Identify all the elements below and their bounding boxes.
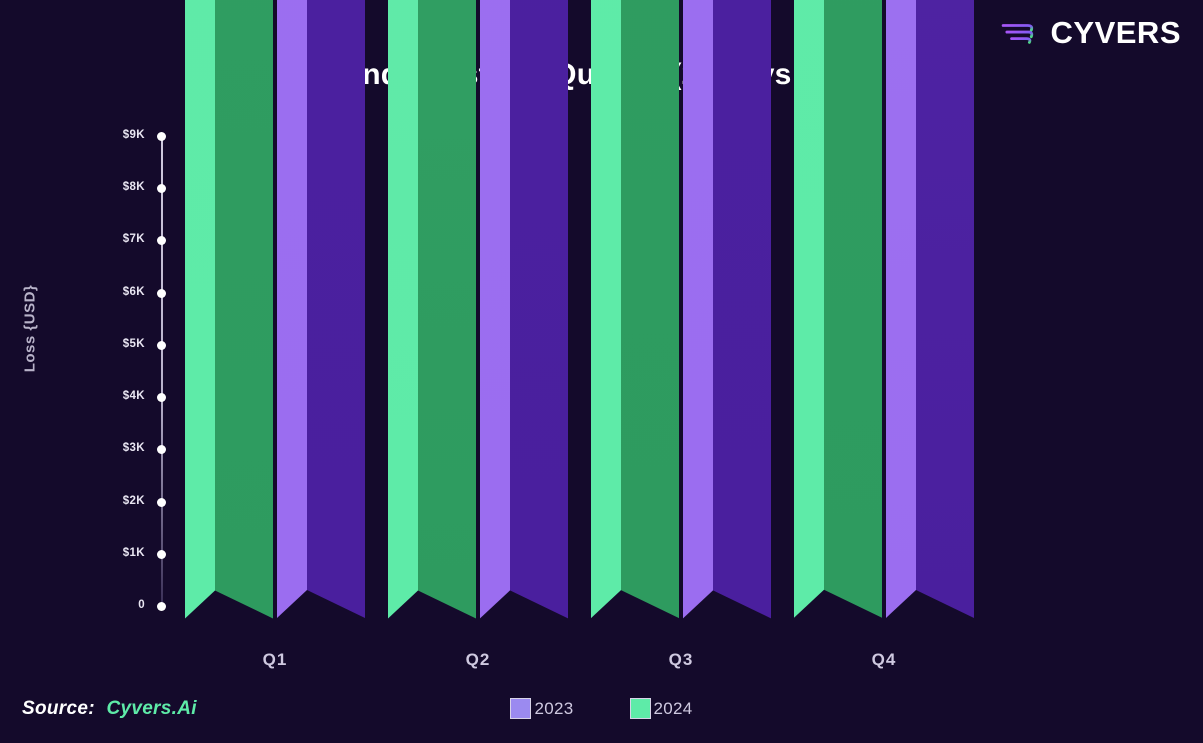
chart-canvas: CYVERS Funds Lost per Quarter (2023 vs 2…: [0, 0, 1203, 743]
source-note: Source: Cyvers.Ai: [22, 698, 197, 720]
bar-purple[interactable]: [277, 0, 365, 606]
legend-label-2024: 2024: [654, 699, 693, 719]
bar-front-face: [591, 0, 621, 618]
legend-item-2023[interactable]: 2023: [510, 698, 573, 719]
legend-swatch-2024: [630, 698, 651, 719]
bar-side-face: [418, 0, 476, 618]
bar-3d-shape: [277, 0, 365, 620]
bar-3d-shape: [794, 0, 882, 620]
y-axis-line: [161, 136, 163, 606]
legend-label-2023: 2023: [534, 699, 573, 719]
bar-side-face: [824, 0, 882, 618]
y-tick-label: 0: [25, 599, 145, 611]
bar-green[interactable]: [388, 0, 476, 606]
bar-front-face: [683, 0, 713, 618]
x-axis-label-q3: Q3: [611, 650, 751, 670]
bar-purple[interactable]: [683, 0, 771, 606]
x-axis-label-q4: Q4: [814, 650, 954, 670]
bar-front-face: [388, 0, 418, 618]
bar-3d-shape: [480, 0, 568, 620]
y-tick-dot: [157, 132, 166, 141]
y-tick-label: $7K: [25, 233, 145, 245]
y-tick-dot: [157, 445, 166, 454]
y-tick-dot: [157, 184, 166, 193]
plot-area: Loss {USD} 0$1K$2K$3K$4K$5K$6K$7K$8K$9K …: [0, 0, 1203, 743]
y-tick-label: $6K: [25, 286, 145, 298]
y-tick-dot: [157, 341, 166, 350]
x-axis-label-q2: Q2: [408, 650, 548, 670]
bar-side-face: [510, 0, 568, 618]
bar-side-face: [307, 0, 365, 618]
y-tick-dot: [157, 550, 166, 559]
x-axis-label-q1: Q1: [205, 650, 345, 670]
bar-green[interactable]: [185, 0, 273, 606]
bar-3d-shape: [886, 0, 974, 620]
bar-green[interactable]: [794, 0, 882, 606]
y-tick-label: $9K: [25, 129, 145, 141]
legend-item-2024[interactable]: 2024: [630, 698, 693, 719]
bar-purple[interactable]: [886, 0, 974, 606]
bar-side-face: [215, 0, 273, 618]
bar-3d-shape: [388, 0, 476, 620]
source-label: Source:: [22, 698, 95, 719]
bar-green[interactable]: [591, 0, 679, 606]
y-tick-label: $3K: [25, 442, 145, 454]
y-tick-dot: [157, 289, 166, 298]
bar-side-face: [621, 0, 679, 618]
y-tick-dot: [157, 393, 166, 402]
bar-3d-shape: [683, 0, 771, 620]
bar-purple[interactable]: [480, 0, 568, 606]
bar-front-face: [277, 0, 307, 618]
y-tick-label: $1K: [25, 547, 145, 559]
bar-3d-shape: [591, 0, 679, 620]
bar-front-face: [185, 0, 215, 618]
bar-front-face: [480, 0, 510, 618]
bar-3d-shape: [185, 0, 273, 620]
source-name: Cyvers.Ai: [106, 698, 196, 719]
bar-front-face: [794, 0, 824, 618]
bar-front-face: [886, 0, 916, 618]
y-tick-dot: [157, 236, 166, 245]
y-tick-label: $4K: [25, 390, 145, 402]
y-tick-dot: [157, 498, 166, 507]
y-tick-label: $2K: [25, 495, 145, 507]
bar-side-face: [916, 0, 974, 618]
bar-side-face: [713, 0, 771, 618]
y-tick-label: $5K: [25, 338, 145, 350]
legend-swatch-2023: [510, 698, 531, 719]
y-tick-label: $8K: [25, 181, 145, 193]
y-tick-dot: [157, 602, 166, 611]
